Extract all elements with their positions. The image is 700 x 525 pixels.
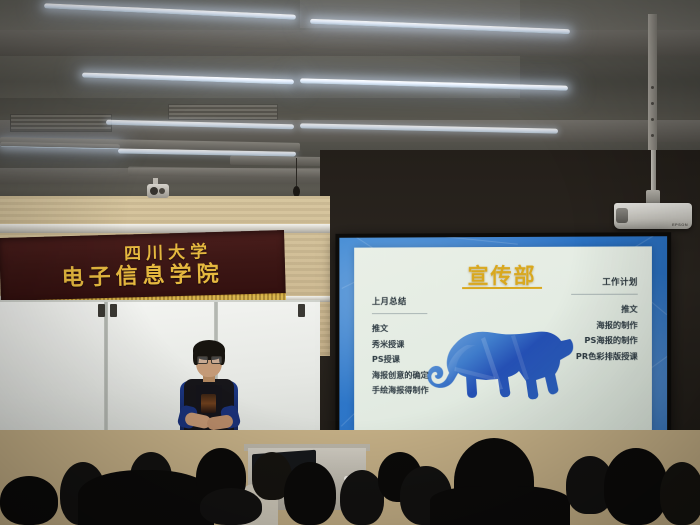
list-item: 秀米授课 (372, 337, 429, 353)
list-item: PR色彩排版授课 (571, 349, 638, 365)
right-column-list: 推文 海报的制作 PS海报的制作 PR色彩排版授课 (571, 302, 638, 365)
glasses-icon (197, 356, 221, 362)
audience-shoulders (430, 486, 570, 525)
slide: 宣传部 (339, 236, 667, 442)
projector-brand-label: EPSON (672, 222, 688, 227)
audience-head (0, 476, 58, 525)
title-underline (462, 287, 542, 289)
ceiling-light (82, 72, 294, 84)
list-item: 推文 (571, 302, 638, 318)
slide-right-column: 工作计划 推文 海报的制作 PS海报的制作 PR色彩排版授课 (571, 275, 638, 365)
left-column-list: 推文 秀米授课 PS授课 海报创意的确定 手绘海报得制作 (372, 321, 429, 399)
projector-lens-icon (616, 208, 628, 223)
list-item: PS海报的制作 (571, 333, 638, 349)
slide-left-column: 上月总结 推文 秀米授课 PS授课 海报创意的确定 手绘海报得制作 (372, 294, 429, 399)
audience-head (604, 448, 668, 525)
audience-head (200, 488, 262, 525)
right-column-rule (571, 294, 638, 295)
whiteboard (0, 300, 320, 450)
list-item: 海报创意的确定 (372, 368, 429, 384)
projector-mount-pole (648, 14, 657, 156)
projector-arm (651, 150, 656, 192)
surveillance-camera-icon (147, 184, 169, 198)
ceiling-vent (10, 114, 112, 132)
lecture-hall-photo: 四川大学 电子信息学院 EPSON (0, 0, 700, 525)
list-item: PS授课 (372, 352, 429, 368)
tiger-silhouette-icon (427, 319, 577, 411)
right-column-heading: 工作计划 (571, 275, 638, 291)
audience-head (284, 462, 336, 525)
projector: EPSON (614, 203, 692, 229)
list-item: 手绘海报得制作 (372, 383, 429, 399)
list-item: 海报的制作 (571, 317, 638, 333)
left-column-heading: 上月总结 (372, 294, 429, 310)
department-banner: 四川大学 电子信息学院 (0, 230, 286, 302)
left-column-rule (372, 313, 427, 314)
audience-head (660, 462, 700, 525)
audience-shoulders (78, 470, 214, 525)
projection-screen: 宣传部 (335, 232, 671, 446)
list-item: 推文 (372, 321, 429, 337)
banner-line-2: 电子信息学院 (0, 254, 286, 294)
slide-content-panel: 宣传部 (354, 246, 652, 431)
ceiling-vent (168, 104, 278, 120)
